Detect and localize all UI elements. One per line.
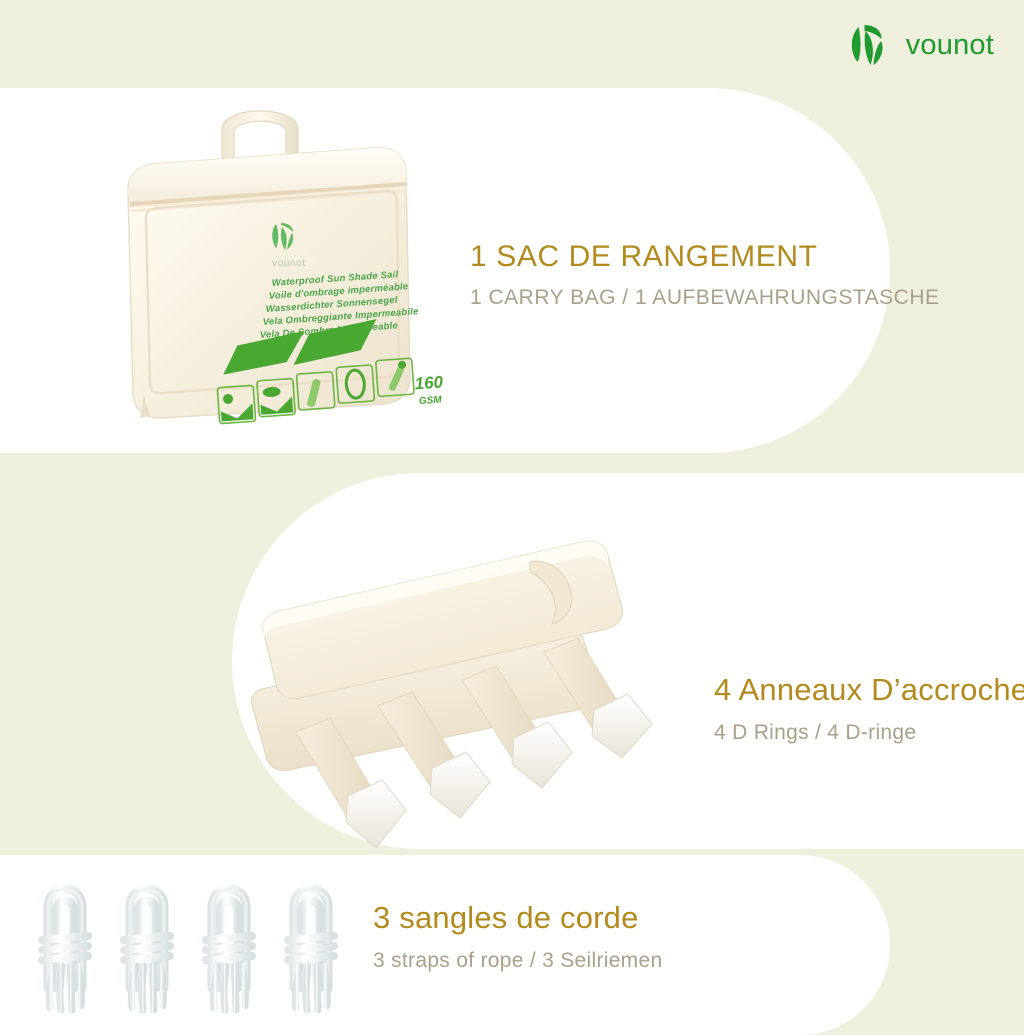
item-subtitle-carry-bag: 1 CARRY BAG / 1 AUFBEWAHRUNGSTASCHE xyxy=(470,285,940,310)
rope-bundle xyxy=(276,862,346,1020)
bag-label-brand: vounot xyxy=(272,258,306,269)
item-title-d-rings: 4 Anneaux D’accroche xyxy=(714,673,1024,708)
rope-bundle xyxy=(194,862,264,1020)
rope-bundle xyxy=(112,862,182,1020)
item-title-carry-bag: 1 SAC DE RANGEMENT xyxy=(470,240,940,274)
brand-name: vounot xyxy=(906,31,994,60)
item-subtitle-d-rings: 4 D Rings / 4 D-ringe xyxy=(714,720,1024,745)
folded-sail-with-d-rings-photo xyxy=(230,480,790,850)
infographic-canvas: vounot xyxy=(0,0,1024,1024)
coiled-ropes-photo xyxy=(30,862,350,1020)
brand-header: vounot xyxy=(848,22,994,68)
svg-text:GSM: GSM xyxy=(419,395,443,408)
text-block-rope-straps: 3 sangles de corde 3 straps of rope / 3 … xyxy=(373,901,662,973)
leaf-logo-icon xyxy=(848,22,892,68)
item-title-rope-straps: 3 sangles de corde xyxy=(373,901,662,936)
text-block-carry-bag: 1 SAC DE RANGEMENT 1 CARRY BAG / 1 AUFBE… xyxy=(470,240,940,310)
text-block-d-rings: 4 Anneaux D’accroche 4 D Rings / 4 D-rin… xyxy=(714,673,1024,745)
gsm-badge: 160 GSM xyxy=(414,372,445,407)
svg-text:160: 160 xyxy=(414,372,444,393)
rope-bundle xyxy=(30,862,100,1020)
storage-bag-photo: vounot Waterproof Sun Shade Sail Voile d… xyxy=(110,96,460,446)
item-subtitle-rope-straps: 3 straps of rope / 3 Seilriemen xyxy=(373,948,662,973)
